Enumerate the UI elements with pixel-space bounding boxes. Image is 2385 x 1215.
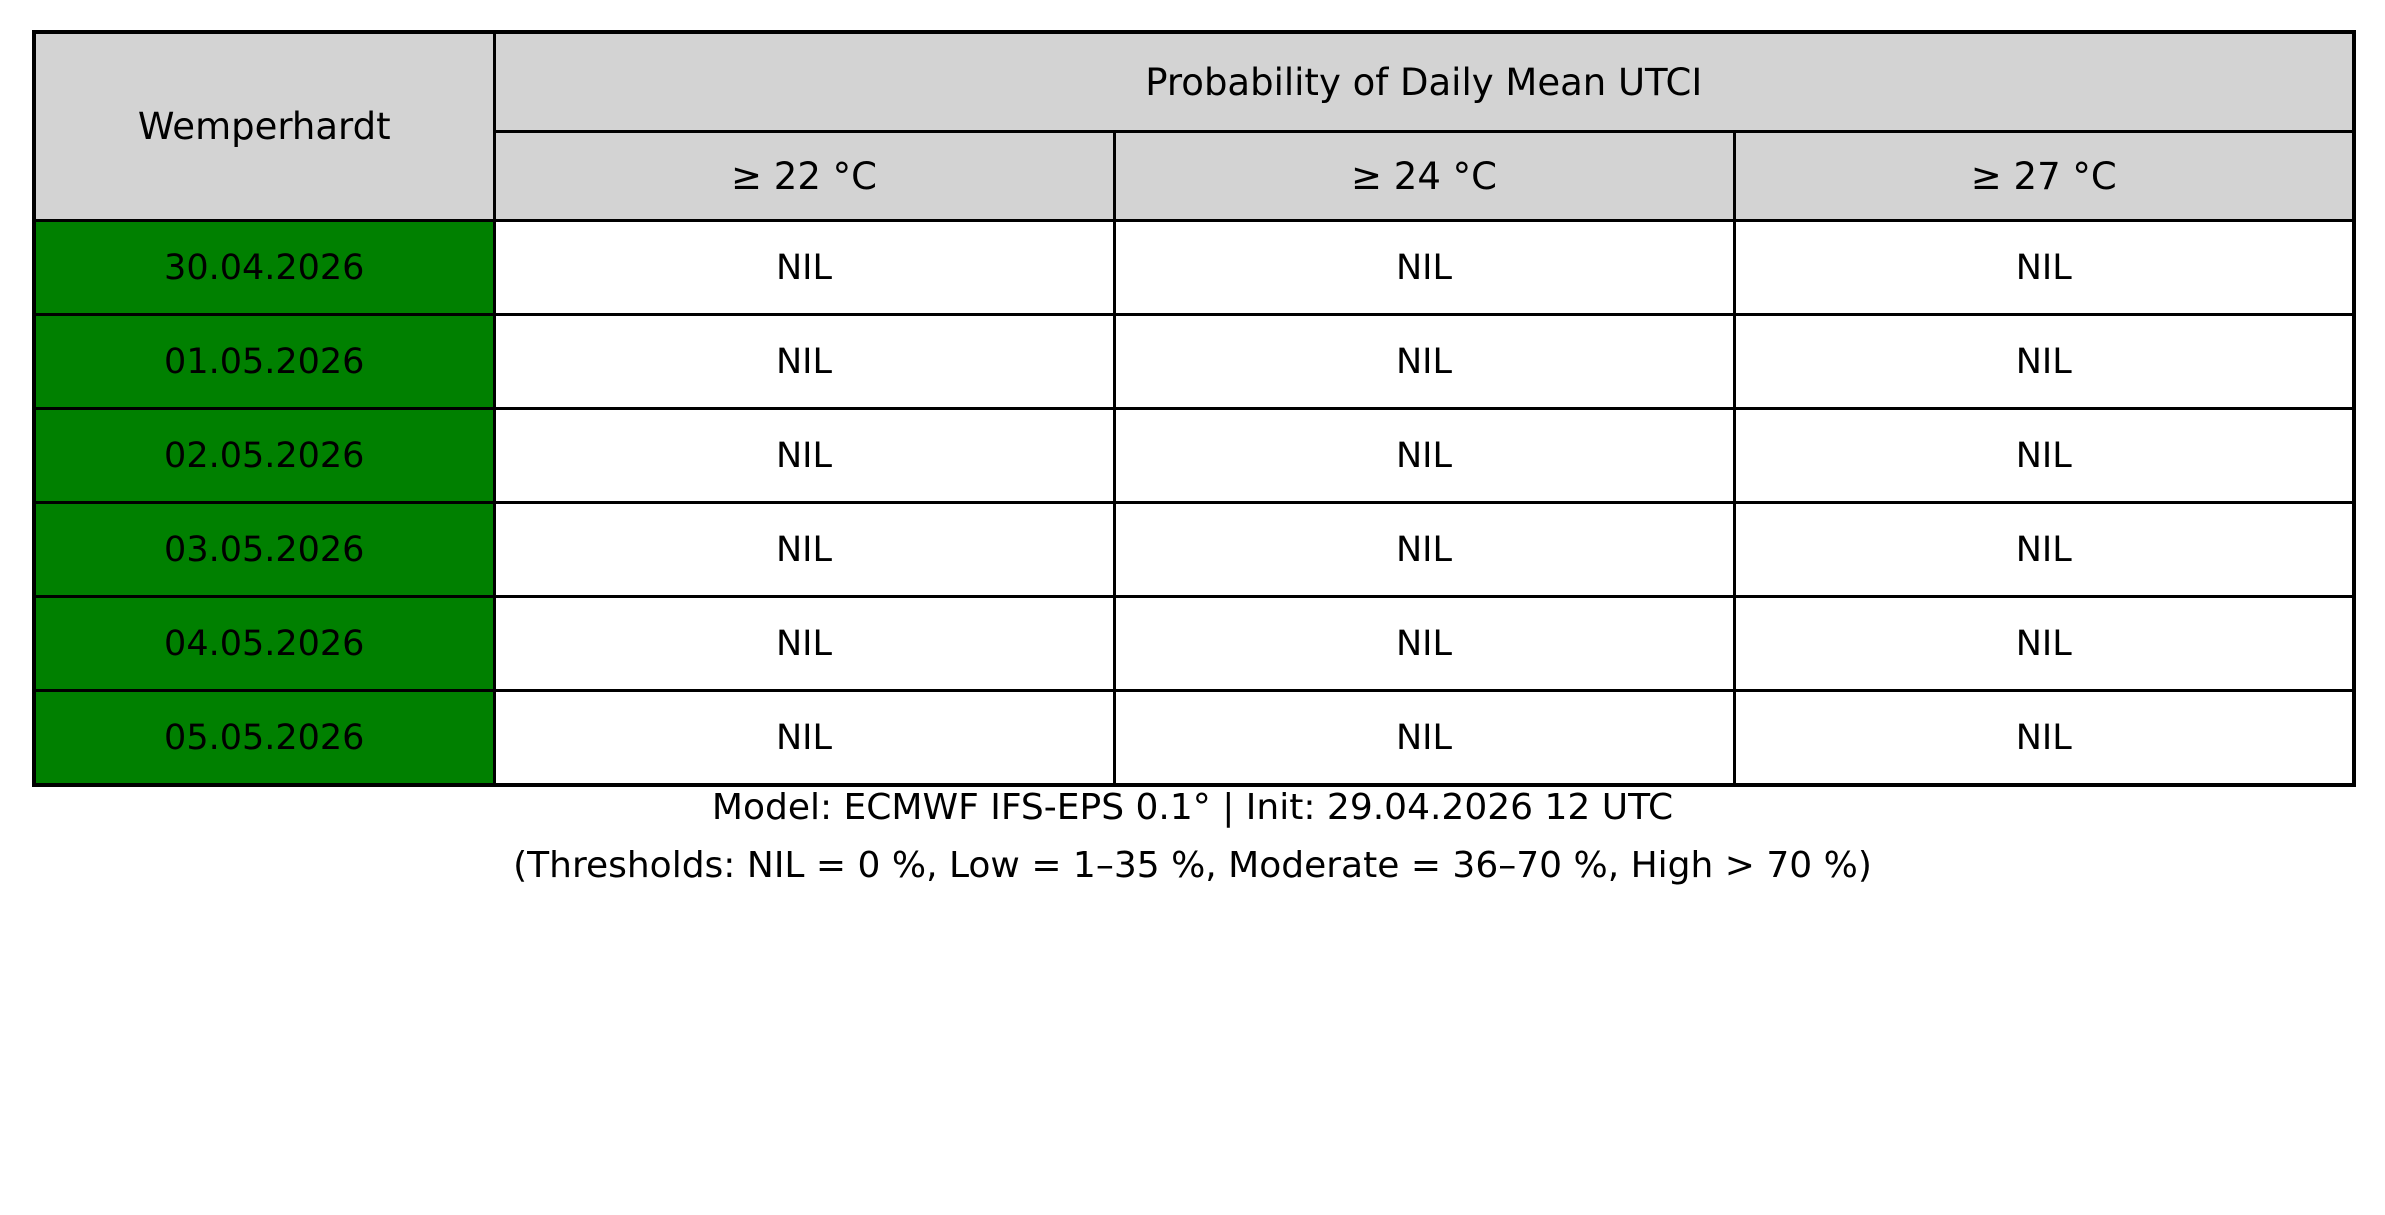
probability-cell-24: NIL — [1114, 315, 1734, 409]
probability-cell-24: NIL — [1114, 221, 1734, 315]
table-row: 03.05.2026 NIL NIL NIL — [34, 503, 2354, 597]
group-header: Probability of Daily Mean UTCI — [494, 32, 2354, 132]
threshold-header-27: ≥ 27 °C — [1734, 132, 2354, 221]
probability-cell-27: NIL — [1734, 503, 2354, 597]
probability-cell-24: NIL — [1114, 409, 1734, 503]
date-cell: 01.05.2026 — [34, 315, 494, 409]
table-body: 30.04.2026 NIL NIL NIL 01.05.2026 NIL NI… — [34, 221, 2354, 786]
probability-cell-24: NIL — [1114, 691, 1734, 786]
thresholds-legend-caption: (Thresholds: NIL = 0 %, Low = 1–35 %, Mo… — [0, 848, 2385, 884]
table-row: 01.05.2026 NIL NIL NIL — [34, 315, 2354, 409]
probability-cell-27: NIL — [1734, 691, 2354, 786]
table-header: Wemperhardt Probability of Daily Mean UT… — [34, 32, 2354, 221]
date-cell: 03.05.2026 — [34, 503, 494, 597]
probability-cell-22: NIL — [494, 221, 1114, 315]
date-cell: 04.05.2026 — [34, 597, 494, 691]
probability-cell-27: NIL — [1734, 315, 2354, 409]
page-root: Wemperhardt Probability of Daily Mean UT… — [0, 0, 2385, 1215]
location-header: Wemperhardt — [34, 32, 494, 221]
probability-cell-22: NIL — [494, 409, 1114, 503]
model-init-caption: Model: ECMWF IFS-EPS 0.1° | Init: 29.04.… — [0, 790, 2385, 826]
probability-cell-22: NIL — [494, 315, 1114, 409]
probability-cell-27: NIL — [1734, 597, 2354, 691]
threshold-header-24: ≥ 24 °C — [1114, 132, 1734, 221]
date-cell: 02.05.2026 — [34, 409, 494, 503]
probability-cell-24: NIL — [1114, 597, 1734, 691]
probability-cell-22: NIL — [494, 691, 1114, 786]
probability-cell-22: NIL — [494, 503, 1114, 597]
header-row-title: Wemperhardt Probability of Daily Mean UT… — [34, 32, 2354, 132]
table-row: 30.04.2026 NIL NIL NIL — [34, 221, 2354, 315]
threshold-header-22: ≥ 22 °C — [494, 132, 1114, 221]
probability-cell-22: NIL — [494, 597, 1114, 691]
figure-footer: Model: ECMWF IFS-EPS 0.1° | Init: 29.04.… — [0, 790, 2385, 906]
date-cell: 05.05.2026 — [34, 691, 494, 786]
table-row: 04.05.2026 NIL NIL NIL — [34, 597, 2354, 691]
table-row: 05.05.2026 NIL NIL NIL — [34, 691, 2354, 786]
probability-cell-27: NIL — [1734, 409, 2354, 503]
probability-cell-27: NIL — [1734, 221, 2354, 315]
utci-probability-table: Wemperhardt Probability of Daily Mean UT… — [32, 30, 2356, 787]
probability-cell-24: NIL — [1114, 503, 1734, 597]
utci-probability-table-wrapper: Wemperhardt Probability of Daily Mean UT… — [32, 30, 2353, 787]
table-row: 02.05.2026 NIL NIL NIL — [34, 409, 2354, 503]
date-cell: 30.04.2026 — [34, 221, 494, 315]
